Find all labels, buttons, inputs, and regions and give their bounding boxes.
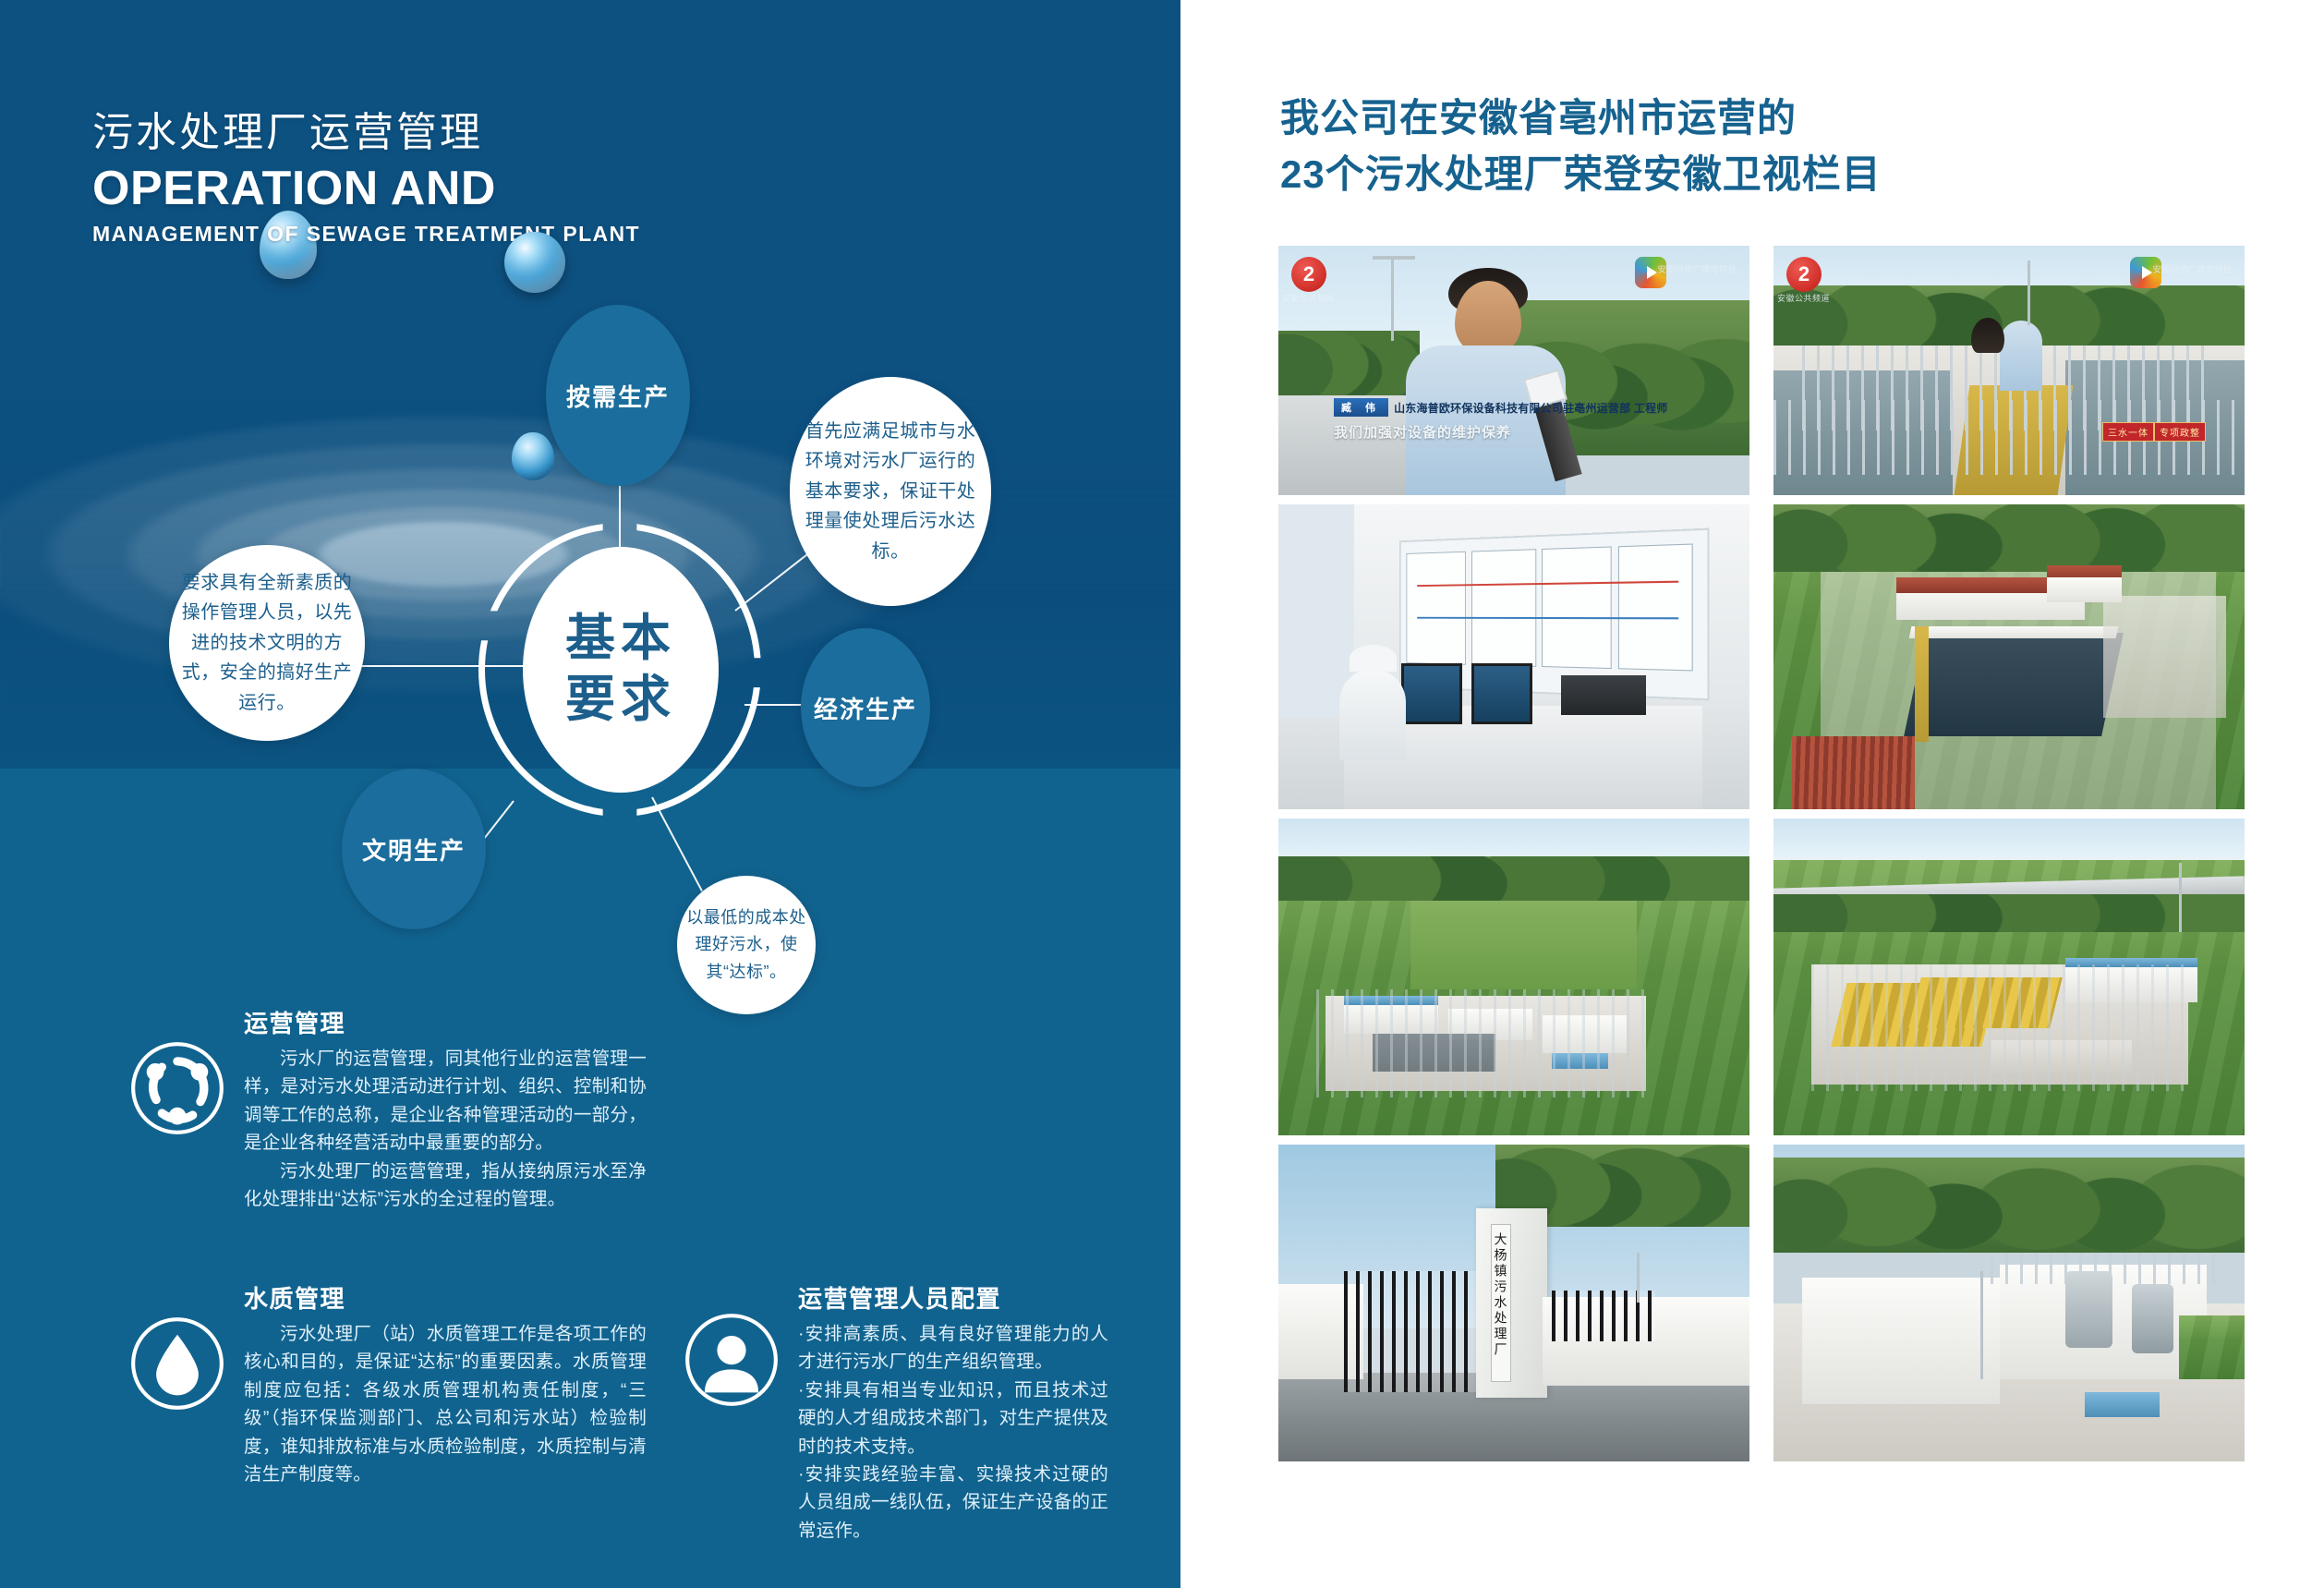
core-line-2: 要求 xyxy=(565,670,676,731)
info-paragraph-operation-2: 污水处理厂的运营管理，指从接纳原污水至净化处理排出“达标”污水的全过程的管理。 xyxy=(244,1158,647,1214)
left-page: 污水处理厂运营管理 OPERATION AND MANAGEMENT OF SE… xyxy=(0,0,1180,1588)
diagram-node-economic-label: 经济生产 xyxy=(814,691,917,725)
info-block-water-quality-body: 水质管理 污水处理厂（站）水质管理工作是各项工作的核心和目的，是保证“达标”的重… xyxy=(244,1280,647,1488)
info-block-operation-body: 运营管理 污水厂的运营管理，同其他行业的运营管理一样，是对污水处理活动进行计划、… xyxy=(244,1005,647,1213)
anhui-tv-logo: 2 xyxy=(1786,257,1822,292)
interview-subtitle: 我们加强对设备的维护保养 xyxy=(1334,422,1738,442)
video-player-logo-caption: 安徽网络广播电视台 xyxy=(1657,262,1737,275)
connector-core-to-callout-bottom xyxy=(651,797,703,891)
info-heading-water-quality: 水质管理 xyxy=(244,1280,647,1315)
anhui-tv-logo: 2 xyxy=(1291,257,1326,292)
interviewee-organization: 山东海普欧环保设备科技有限公司驻亳州运营部 工程师 xyxy=(1394,400,1667,416)
right-page: 我公司在安徽省亳州市运营的 23个污水处理厂荣登安徽卫视栏目 2 安徽公共频道 xyxy=(1192,0,2324,1588)
right-page-title-line-2: 23个污水处理厂荣登安徽卫视栏目 xyxy=(1280,147,1882,203)
core-line-1: 基本 xyxy=(565,609,676,670)
info-paragraph-operation-1: 污水厂的运营管理，同其他行业的运营管理一样，是对污水处理活动进行计划、组织、控制… xyxy=(244,1045,647,1158)
info-block-operation-management: 运营管理 污水厂的运营管理，同其他行业的运营管理一样，是对污水处理活动进行计划、… xyxy=(129,1005,647,1213)
info-heading-staffing: 运营管理人员配置 xyxy=(798,1280,1108,1315)
diagram-node-civilized-label: 文明生产 xyxy=(362,832,466,867)
right-page-title-line-1: 我公司在安徽省亳州市运营的 xyxy=(1280,91,1882,147)
glass-ball-small-decoration xyxy=(512,432,554,480)
connector-core-to-on-demand xyxy=(619,484,621,551)
diagram-node-economic[interactable]: 经济生产 xyxy=(801,628,930,787)
network-cycle-icon xyxy=(129,1040,225,1136)
diagram-node-civilized[interactable]: 文明生产 xyxy=(342,769,486,929)
diagram-node-on-demand[interactable]: 按需生产 xyxy=(546,305,690,486)
interview-lower-third: 臧 伟 山东海普欧环保设备科技有限公司驻亳州运营部 工程师 我们加强对设备的维护… xyxy=(1334,398,1738,442)
brochure-spread: 污水处理厂运营管理 OPERATION AND MANAGEMENT OF SE… xyxy=(0,0,2324,1588)
anhui-tv-logo-caption: 安徽公共频道 xyxy=(1777,292,1844,304)
diagram-callout-top-text: 首先应满足城市与水环境对污水厂运行的基本要求，保证干处理量使处理后污水达标。 xyxy=(803,417,978,566)
basic-requirements-diagram: 基本 要求 按需生产 经济生产 文明生产 首先应满足城市与水环境对污水厂运行的基… xyxy=(0,0,1180,1062)
info-block-staffing-body: 运营管理人员配置 ·安排高素质、具有良好管理能力的人才进行污水厂的生产组织管理。… xyxy=(798,1280,1108,1545)
diagram-node-on-demand-label: 按需生产 xyxy=(566,379,670,413)
user-person-icon xyxy=(684,1312,780,1408)
anhui-tv-logo-caption: 安徽公共频道 xyxy=(1282,292,1349,304)
info-paragraph-staffing-3: ·安排实践经验丰富、实操技术过硬的人员组成一线队伍，保证生产设备的正常运作。 xyxy=(798,1461,1108,1545)
photo-control-room[interactable] xyxy=(1278,504,1749,809)
photo-plant-aerial-2[interactable] xyxy=(1278,818,1749,1135)
plant-gate-sign: 大杨镇污水处理厂 xyxy=(1491,1224,1511,1383)
anhui-tv-logo-text: 2 xyxy=(1303,262,1314,286)
diagram-core-label: 基本 要求 xyxy=(523,547,719,793)
diagram-callout-left: 要求具有全新素质的操作管理人员，以先进的技术文明的方式，安全的搞好生产运行。 xyxy=(169,545,365,741)
right-page-title: 我公司在安徽省亳州市运营的 23个污水处理厂荣登安徽卫视栏目 xyxy=(1280,91,1882,203)
info-paragraph-staffing-1: ·安排高素质、具有良好管理能力的人才进行污水厂的生产组织管理。 xyxy=(798,1320,1108,1376)
video-player-logo-caption: 安徽网络广播电视台 xyxy=(2152,262,2232,275)
photo-plant-gate[interactable]: 大杨镇污水处理厂 xyxy=(1278,1145,1749,1461)
photo-tv-interview[interactable]: 2 安徽公共频道 安徽网络广播电视台 臧 伟 山东海普欧环保设备科技有限公司驻亳… xyxy=(1278,246,1749,495)
info-block-staffing: 运营管理人员配置 ·安排高素质、具有良好管理能力的人才进行污水厂的生产组织管理。… xyxy=(684,1280,1108,1545)
info-paragraph-staffing-2: ·安排具有相当专业知识，而且技术过硬的人才组成技术部门，对生产提供及时的技术支持… xyxy=(798,1376,1108,1461)
water-drop-icon xyxy=(129,1315,225,1412)
photo-plant-aerial-3[interactable] xyxy=(1773,818,2245,1135)
diagram-callout-top: 首先应满足城市与水环境对污水厂运行的基本要求，保证干处理量使处理后污水达标。 xyxy=(790,377,991,606)
diagram-callout-bottom-text: 以最低的成本处理好污水，使其“达标”。 xyxy=(686,904,806,985)
diagram-callout-left-text: 要求具有全新素质的操作管理人员，以先进的技术文明的方式，安全的搞好生产运行。 xyxy=(180,568,354,718)
program-banner-right: 专项政整 xyxy=(2154,422,2206,442)
glass-ball-large-decoration xyxy=(504,232,565,293)
photo-plant-aerial-1[interactable] xyxy=(1773,504,2245,809)
photo-aeration-tank-walkway[interactable]: 2 安徽公共频道 安徽网络广播电视台 三水一体 专项政整 xyxy=(1773,246,2245,495)
info-block-water-quality: 水质管理 污水处理厂（站）水质管理工作是各项工作的核心和目的，是保证“达标”的重… xyxy=(129,1280,647,1488)
photo-grid: 2 安徽公共频道 安徽网络广播电视台 臧 伟 山东海普欧环保设备科技有限公司驻亳… xyxy=(1278,246,2245,1461)
diagram-callout-bottom: 以最低的成本处理好污水，使其“达标”。 xyxy=(677,876,816,1014)
program-banner: 三水一体 专项政整 xyxy=(2102,422,2206,442)
photo-plant-equipment[interactable] xyxy=(1773,1145,2245,1461)
program-banner-left: 三水一体 xyxy=(2102,422,2154,442)
info-heading-operation-management: 运营管理 xyxy=(244,1005,647,1039)
anhui-tv-logo-text: 2 xyxy=(1798,262,1810,286)
info-paragraph-water-quality-1: 污水处理厂（站）水质管理工作是各项工作的核心和目的，是保证“达标”的重要因素。水… xyxy=(244,1320,647,1488)
interviewee-name: 臧 伟 xyxy=(1334,398,1388,417)
